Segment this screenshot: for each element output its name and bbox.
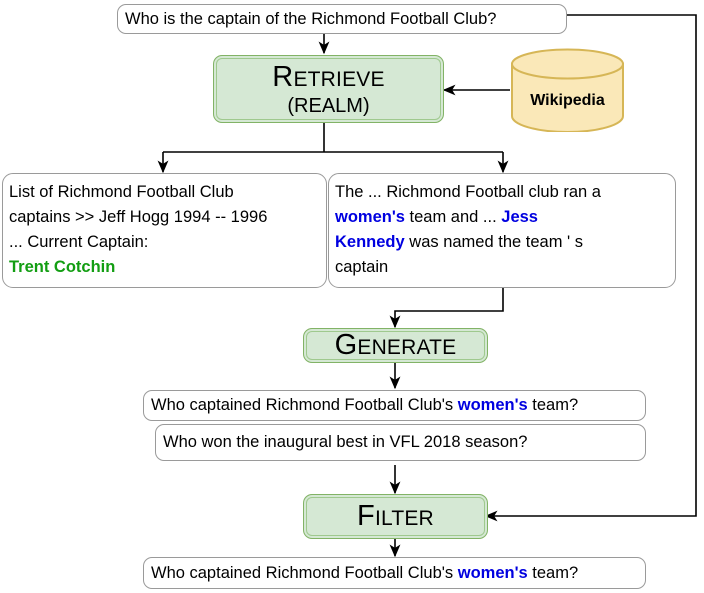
doc-right-line: captain xyxy=(335,255,669,280)
retrieve-label-initial: R xyxy=(272,61,293,93)
doc-left-line: List of Richmond Football Club xyxy=(9,180,320,205)
text-segment: was named the team ' s xyxy=(405,233,583,251)
text-segment: captain xyxy=(335,258,388,276)
generated-question-1-box[interactable]: Who captained Richmond Football Club's w… xyxy=(143,390,646,421)
doc-right-line: The ... Richmond Football club ran a xyxy=(335,180,669,205)
filter-process-box[interactable]: FILTER xyxy=(303,494,488,539)
retrieved-document-left[interactable]: List of Richmond Football Club captains … xyxy=(2,173,327,288)
retrieve-sublabel: (REALM) xyxy=(287,95,369,118)
text-segment: women's xyxy=(458,564,528,582)
generated-question-2-box[interactable]: Who won the inaugural best in VFL 2018 s… xyxy=(155,424,646,461)
filter-label-initial: F xyxy=(357,500,375,532)
generated-question-1-text: Who captained Richmond Football Club's w… xyxy=(151,393,578,418)
filter-label-rest: ILTER xyxy=(375,507,434,530)
text-segment: team and ... xyxy=(405,208,501,226)
generate-label-initial: G xyxy=(335,329,358,361)
text-segment: captains >> Jeff Hogg 1994 -- 1996 xyxy=(9,208,267,226)
retrieved-document-right[interactable]: The ... Richmond Football club ran a wom… xyxy=(328,173,676,288)
output-question-box[interactable]: Who captained Richmond Football Club's w… xyxy=(143,557,646,589)
filter-label: FILTER xyxy=(357,500,434,533)
generated-question-2-text: Who won the inaugural best in VFL 2018 s… xyxy=(163,430,527,455)
retrieve-label-rest: ETRIEVE xyxy=(293,68,384,91)
text-segment: team? xyxy=(528,396,578,414)
text-segment: team? xyxy=(528,564,578,582)
wikipedia-label: Wikipedia xyxy=(510,92,625,110)
text-segment: Who won the inaugural best in VFL 2018 s… xyxy=(163,433,527,451)
text-segment: ... Current Captain: xyxy=(9,233,148,251)
text-segment: Who captained Richmond Football Club's xyxy=(151,396,458,414)
input-question-box[interactable]: Who is the captain of the Richmond Footb… xyxy=(117,4,567,34)
doc-left-line: Trent Cotchin xyxy=(9,255,320,280)
text-segment: Jess xyxy=(501,208,538,226)
generate-process-box[interactable]: GENERATE xyxy=(303,328,488,363)
wikipedia-datastore[interactable]: Wikipedia xyxy=(510,48,625,132)
doc-left-line: ... Current Captain: xyxy=(9,230,320,255)
generate-label: GENERATE xyxy=(335,329,457,362)
doc-left-line: captains >> Jeff Hogg 1994 -- 1996 xyxy=(9,205,320,230)
text-segment: Trent Cotchin xyxy=(9,258,115,276)
flowchart-canvas: Who is the captain of the Richmond Footb… xyxy=(0,0,704,593)
output-question-text: Who captained Richmond Football Club's w… xyxy=(151,561,578,586)
text-segment: Who captained Richmond Football Club's xyxy=(151,564,458,582)
retrieve-label: RETRIEVE xyxy=(272,61,384,94)
text-segment: Kennedy xyxy=(335,233,405,251)
retrieve-process-box[interactable]: RETRIEVE (REALM) xyxy=(213,55,444,123)
input-question-text: Who is the captain of the Richmond Footb… xyxy=(125,7,496,32)
text-segment: women's xyxy=(335,208,405,226)
database-cylinder-icon xyxy=(510,48,625,132)
text-segment: The ... Richmond Football club ran a xyxy=(335,183,601,201)
generate-label-rest: ENERATE xyxy=(357,336,456,359)
text-segment: women's xyxy=(458,396,528,414)
doc-right-line: Kennedy was named the team ' s xyxy=(335,230,669,255)
edge-docright-to-generate xyxy=(395,288,503,327)
doc-right-line: women's team and ... Jess xyxy=(335,205,669,230)
text-segment: List of Richmond Football Club xyxy=(9,183,234,201)
